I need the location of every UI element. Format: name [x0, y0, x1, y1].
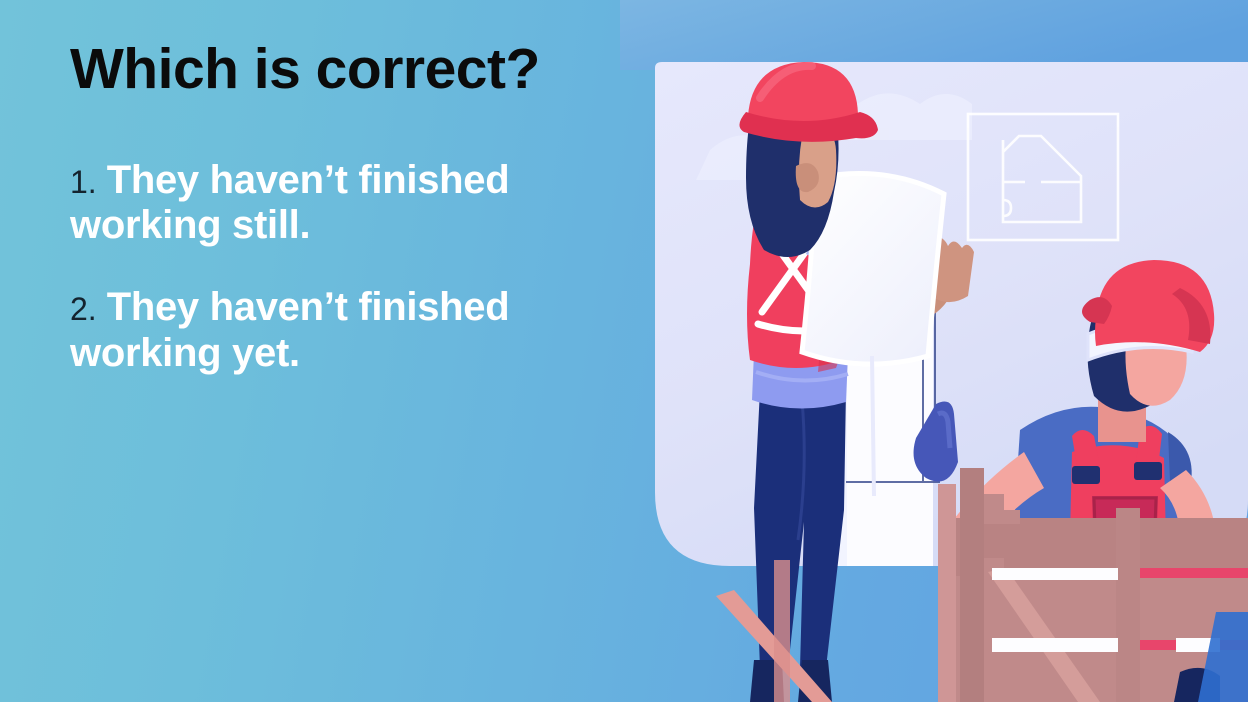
page-title: Which is correct? [70, 40, 630, 100]
fence-rail-white-upper [992, 568, 1118, 580]
sky-band [620, 0, 1248, 70]
slide-canvas: Which is correct? 1.They haven’t finishe… [0, 0, 1248, 702]
option-number-2: 2. [70, 291, 97, 327]
fence-rail-pink-upper [1140, 568, 1248, 578]
construction-workers-illustration [620, 0, 1248, 702]
option-number-1: 1. [70, 164, 97, 200]
strap-buckle-left [1072, 466, 1100, 484]
option-item-1: 1.They haven’t finished working still. [70, 158, 630, 249]
option-item-2: 2.They haven’t finished working yet. [70, 285, 630, 376]
fence-post-mid [1116, 508, 1140, 702]
text-column: Which is correct? 1.They haven’t finishe… [70, 40, 630, 376]
option-text-2: They haven’t finished working yet. [70, 285, 509, 375]
option-text-1: They haven’t finished working still. [70, 158, 509, 248]
strap-buckle-right [1134, 462, 1162, 480]
fence-rail-white-lower [992, 638, 1118, 652]
fence-post-left [960, 468, 984, 702]
